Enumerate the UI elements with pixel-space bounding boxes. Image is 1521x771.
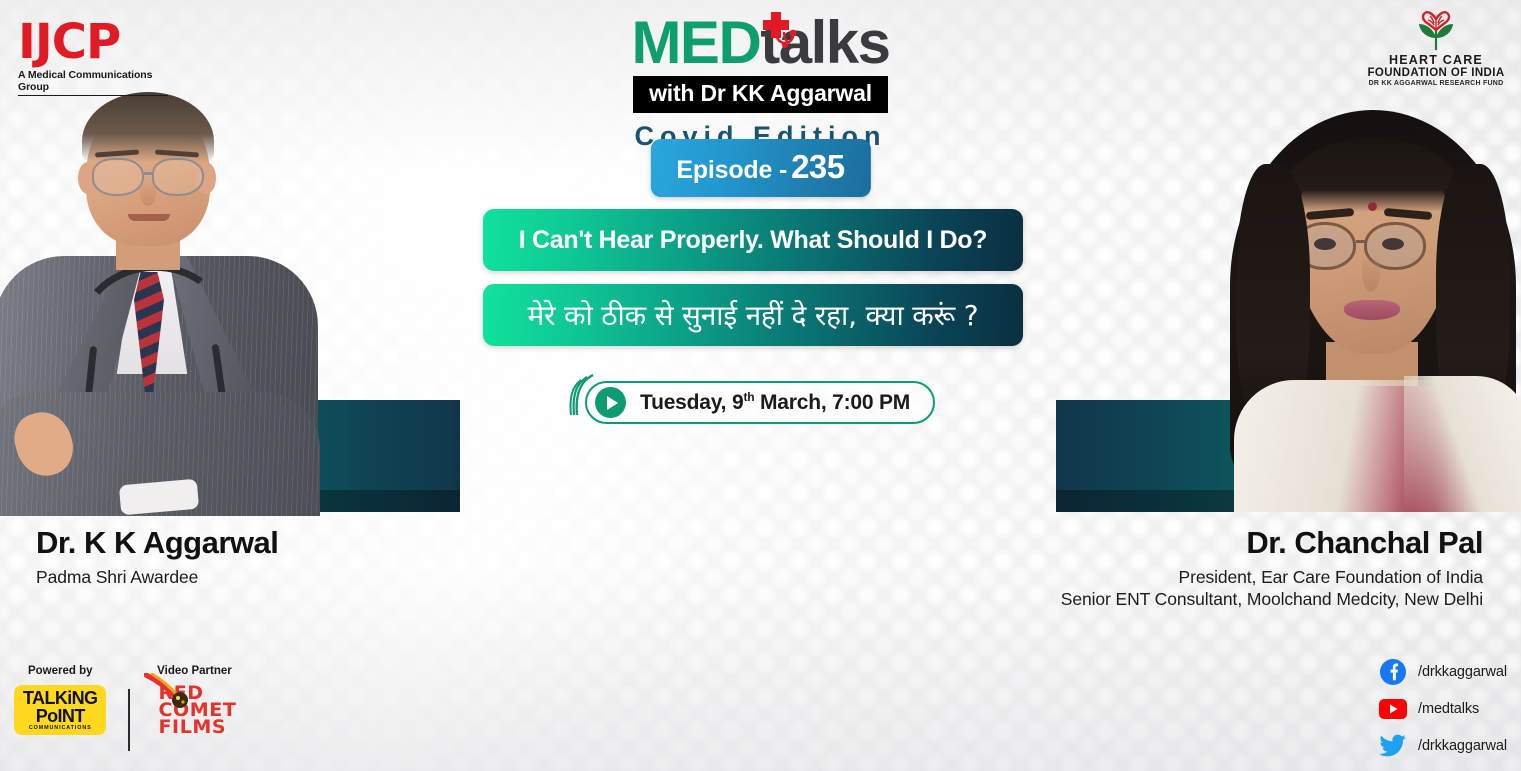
- talking-point-line-3: COMMUNICATIONS: [23, 725, 97, 732]
- medtalks-subtitle: with Dr KK Aggarwal: [633, 76, 888, 113]
- youtube-handle: /medtalks: [1418, 701, 1479, 717]
- comet-icon: [144, 673, 198, 713]
- speaker-caption-right: Dr. Chanchal Pal President, Ear Care Fou…: [1061, 525, 1483, 610]
- powered-by-block: Powered by TALKiNG PoINT COMMUNICATIONS: [14, 665, 106, 735]
- schedule-rest: March, 7:00 PM: [754, 391, 910, 414]
- medtalks-logo-block: MEDtalks with Dr KK Aggarwal Covid Editi…: [0, 12, 1521, 152]
- portrait-dr-kk-aggarwal: [0, 96, 312, 512]
- facebook-icon[interactable]: [1379, 658, 1407, 686]
- social-row-twitter[interactable]: /drkkaggarwal: [1379, 732, 1507, 760]
- schedule-day: Tuesday, 9: [640, 391, 743, 414]
- speaker-subtitle: President, Ear Care Foundation of India: [1061, 567, 1483, 588]
- facebook-handle: /drkkaggarwal: [1418, 664, 1507, 680]
- talking-point-line-2: PoINT: [23, 707, 97, 725]
- social-row-facebook[interactable]: /drkkaggarwal: [1379, 658, 1507, 686]
- play-icon[interactable]: [595, 387, 626, 418]
- social-links: /drkkaggarwal /medtalks /drkkaggarwal: [1379, 658, 1507, 760]
- talking-point-line-1: TALKiNG: [23, 689, 97, 707]
- youtube-icon[interactable]: [1379, 695, 1407, 723]
- title-hindi-text: मेरे को ठीक से सुनाई नहीं दे रहा, क्या क…: [528, 296, 979, 334]
- speaker-name: Dr. Chanchal Pal: [1061, 525, 1483, 561]
- title-english-text: I Can't Hear Properly. What Should I Do?: [519, 226, 988, 255]
- episode-label: Episode -: [676, 156, 787, 184]
- episode-badge: Episode -235: [650, 139, 870, 197]
- twitter-handle: /drkkaggarwal: [1418, 738, 1507, 754]
- title-banner-english: I Can't Hear Properly. What Should I Do?: [483, 209, 1023, 271]
- medtalks-wordmark: MEDtalks: [631, 12, 889, 74]
- med-text: MED: [631, 9, 760, 76]
- stethoscope-cross-icon: [757, 8, 803, 54]
- episode-number: 235: [791, 148, 845, 185]
- title-banner-hindi: मेरे को ठीक से सुनाई नहीं दे रहा, क्या क…: [483, 284, 1023, 346]
- speaker-caption-left: Dr. K K Aggarwal Padma Shri Awardee: [36, 525, 278, 588]
- poster-canvas: IJCP A Medical Communications Group HEAR…: [0, 0, 1521, 771]
- social-row-youtube[interactable]: /medtalks: [1379, 695, 1507, 723]
- speaker-name: Dr. K K Aggarwal: [36, 525, 278, 561]
- talking-point-logo: TALKiNG PoINT COMMUNICATIONS: [14, 685, 106, 735]
- red-comet-line-3: FILMS: [158, 719, 236, 736]
- portrait-dr-chanchal-pal: [1222, 104, 1521, 512]
- schedule-ordinal: th: [743, 390, 754, 404]
- speaker-subtitle: Senior ENT Consultant, Moolchand Medcity…: [1061, 589, 1483, 610]
- schedule-pill: Tuesday, 9th March, 7:00 PM: [585, 381, 935, 424]
- red-comet-films-logo: RED COMET FILMS: [152, 685, 236, 736]
- schedule-row: Tuesday, 9th March, 7:00 PM: [563, 381, 935, 424]
- schedule-text: Tuesday, 9th March, 7:00 PM: [640, 390, 910, 415]
- partner-divider: [128, 689, 130, 751]
- speaker-subtitle: Padma Shri Awardee: [36, 567, 278, 588]
- twitter-icon[interactable]: [1379, 732, 1407, 760]
- video-partner-block: Video Partner RED COMET FILMS: [152, 665, 236, 738]
- powered-by-caption: Powered by: [14, 665, 106, 677]
- partner-logos: Powered by TALKiNG PoINT COMMUNICATIONS …: [14, 665, 236, 751]
